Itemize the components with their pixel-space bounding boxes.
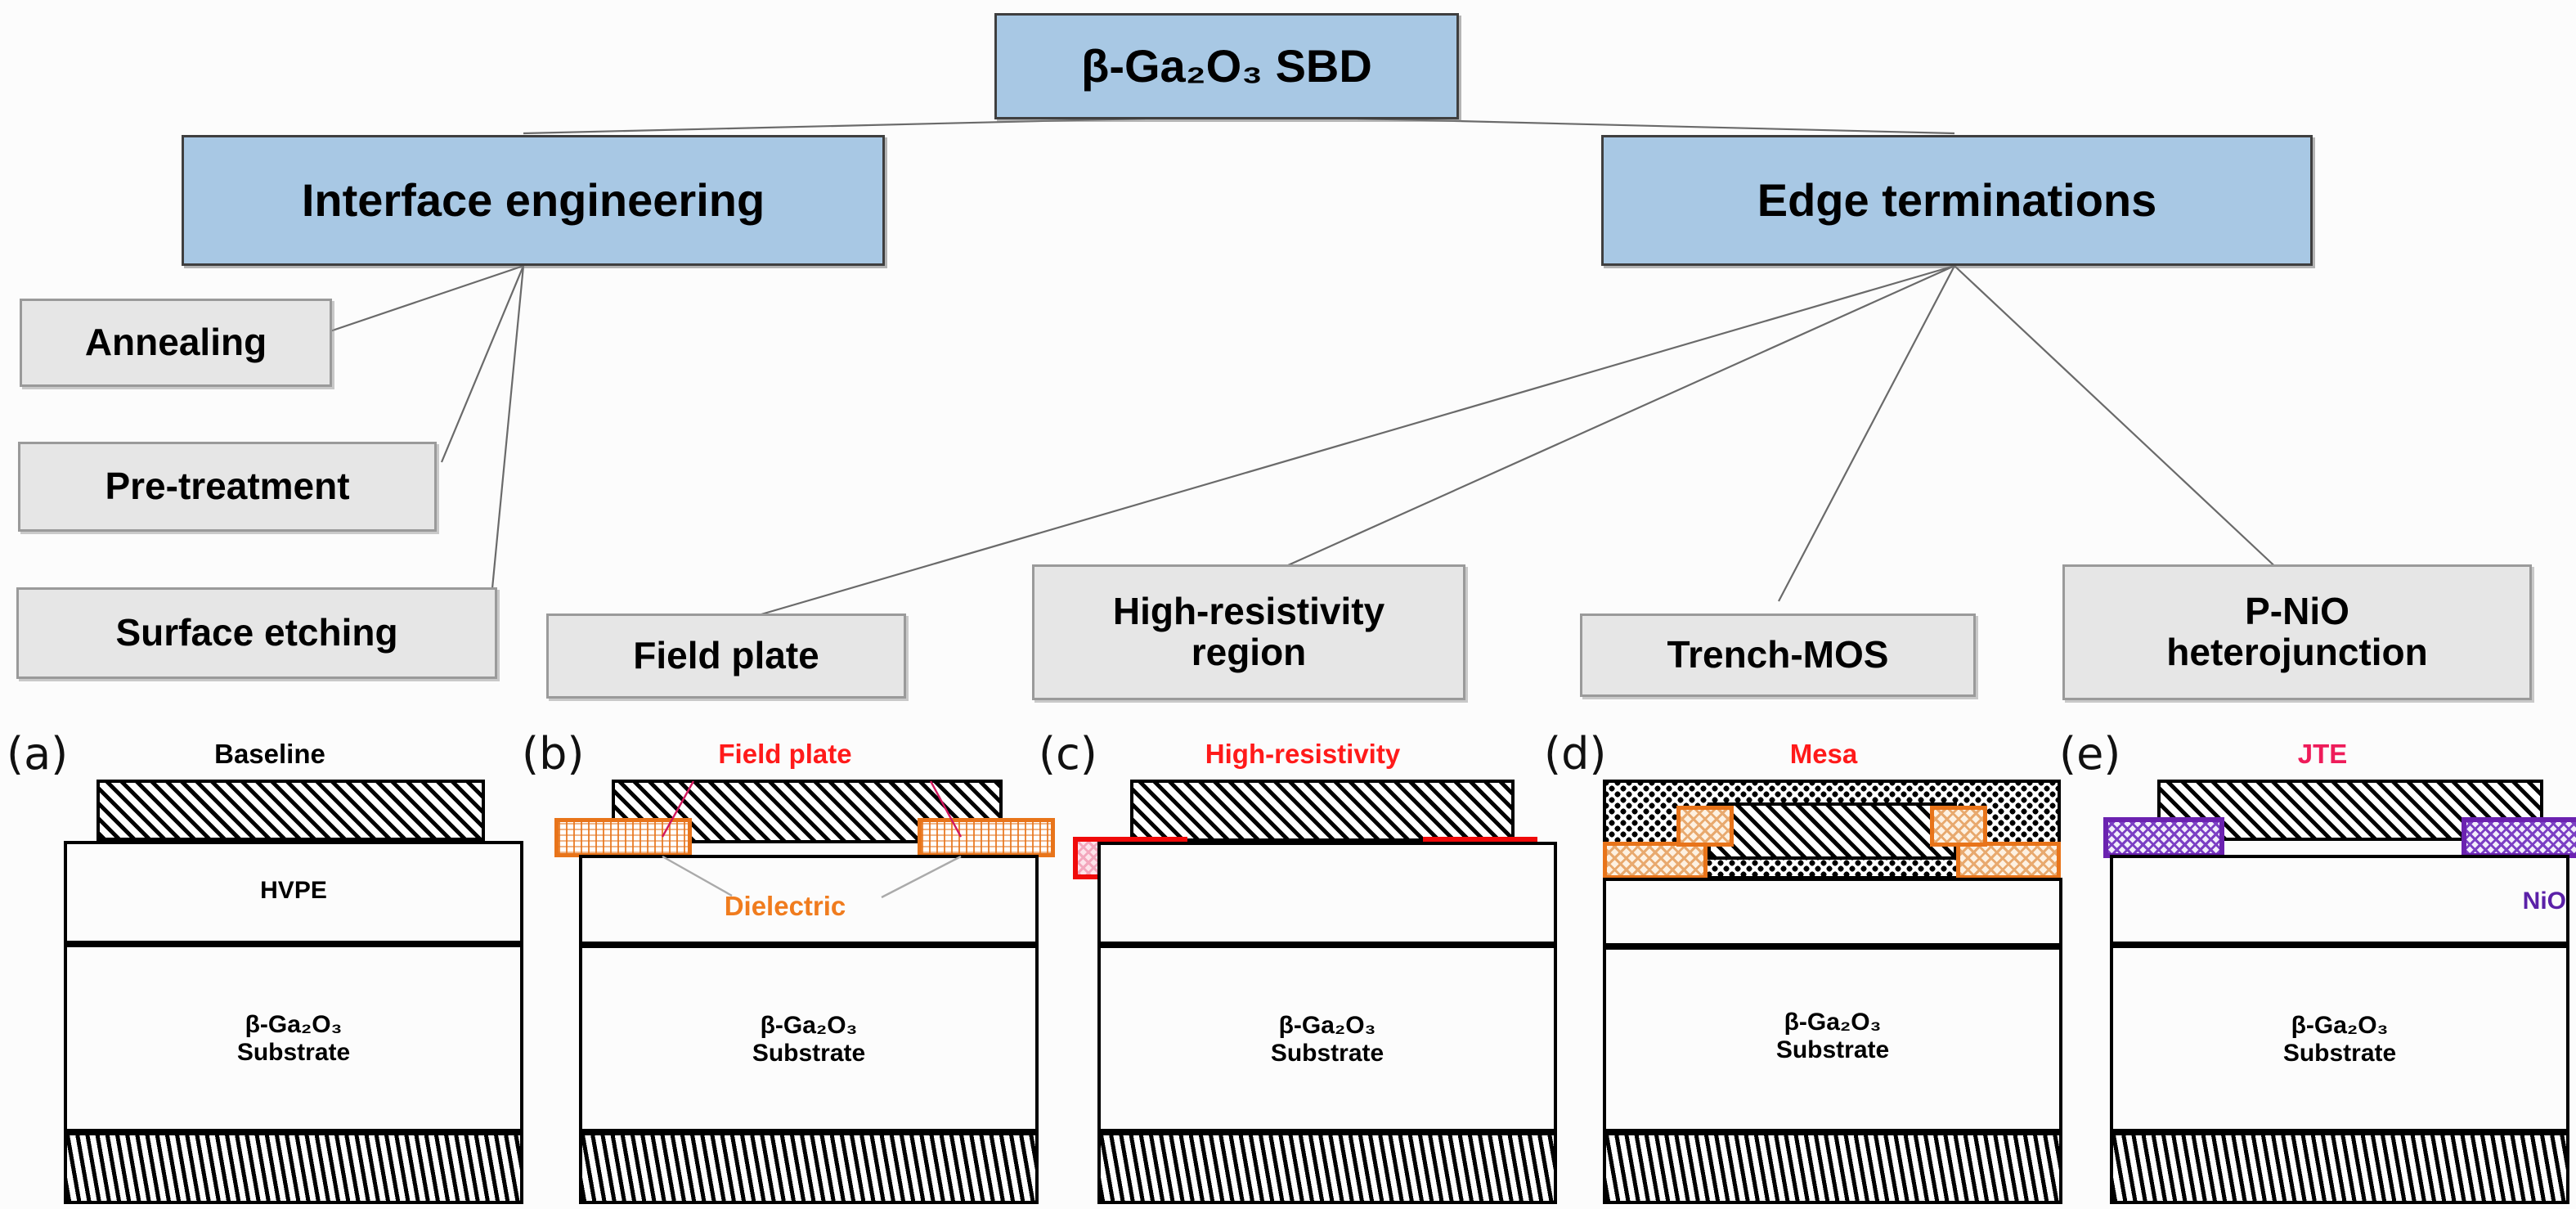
nio-right-e (2462, 817, 2576, 858)
edge-et-trench (1779, 266, 1954, 601)
node-field-plate[interactable]: Field plate (546, 613, 906, 699)
node-interface-engineering[interactable]: Interface engineering (182, 135, 885, 266)
node-field-plate-label: Field plate (633, 636, 819, 676)
substrate-line2-a: Substrate (237, 1039, 350, 1066)
device-panel-mesa: (d) Mesa β-Ga₂O₃ Substrate (1537, 732, 2094, 1209)
substrate-d: β-Ga₂O₃ Substrate (1603, 946, 2062, 1132)
node-trench-mos-label: Trench-MOS (1667, 635, 1889, 676)
substrate-line1-d: β-Ga₂O₃ (1784, 1009, 1882, 1036)
edge-et-hires (1272, 266, 1954, 573)
node-surface-etching-label: Surface etching (115, 613, 397, 654)
panel-e-title: JTE (2175, 740, 2470, 767)
node-p-nio-label: P-NiO heterojunction (2166, 591, 2427, 672)
substrate-line2-c: Substrate (1271, 1040, 1384, 1067)
trench-liner-right-step-d (1930, 806, 1987, 847)
device-panel-baseline: (a) Baseline HVPE β-Ga₂O₃ Substrate (0, 732, 532, 1209)
substrate-e: β-Ga₂O₃ Substrate (2110, 945, 2569, 1132)
edge-root-interface (523, 119, 1145, 133)
node-interface-label: Interface engineering (302, 176, 765, 225)
cathode-electrode-a (64, 1132, 523, 1204)
substrate-line1-e: β-Ga₂O₃ (2291, 1012, 2389, 1039)
node-edge-terminations[interactable]: Edge terminations (1601, 135, 2313, 266)
substrate-label-a: β-Ga₂O₃ Substrate (67, 1011, 520, 1066)
nio-left-e (2103, 817, 2224, 858)
anode-electrode-c (1130, 780, 1515, 842)
edge-if-pretreat (442, 266, 523, 462)
panel-e-tag: (e) (2059, 732, 2120, 776)
edge-if-etching (491, 266, 523, 605)
anode-electrode-a (96, 780, 485, 841)
dielectric-annotation-b: Dielectric (638, 892, 932, 919)
substrate-line1-c: β-Ga₂O₃ (1279, 1012, 1376, 1039)
node-high-resistivity-region[interactable]: High-resistivity region (1032, 564, 1465, 700)
device-panel-jte: (e) JTE NiO β-Ga₂O₃ Substrate (2053, 732, 2576, 1209)
drift-layer-c (1097, 842, 1557, 945)
substrate-line1-a: β-Ga₂O₃ (245, 1011, 343, 1038)
cathode-electrode-b (579, 1132, 1039, 1204)
node-pre-treatment[interactable]: Pre-treatment (18, 442, 437, 532)
panel-b-tag: (b) (522, 732, 584, 776)
hvpe-label-a: HVPE (67, 877, 520, 905)
device-panel-field-plate: (b) Field plate β-Ga₂O₃ Substrate Dielec… (515, 732, 1047, 1209)
node-annealing-label: Annealing (85, 322, 267, 363)
substrate-label-b: β-Ga₂O₃ Substrate (582, 1012, 1035, 1067)
node-root[interactable]: β-Ga₂O₃ SBD (994, 13, 1459, 119)
substrate-label-c: β-Ga₂O₃ Substrate (1101, 1012, 1554, 1067)
substrate-c: β-Ga₂O₃ Substrate (1097, 945, 1557, 1132)
node-annealing[interactable]: Annealing (20, 299, 332, 387)
cathode-electrode-c (1097, 1132, 1557, 1204)
panel-d-tag: (d) (1544, 732, 1606, 776)
substrate-line2-d: Substrate (1776, 1036, 1889, 1063)
substrate-a: β-Ga₂O₃ Substrate (64, 944, 523, 1132)
substrate-line2-e: Substrate (2283, 1040, 2396, 1067)
substrate-line1-b: β-Ga₂O₃ (761, 1012, 858, 1039)
panel-d-title: Mesa (1660, 740, 1987, 767)
panel-a-tag: (a) (7, 732, 68, 776)
node-edge-label: Edge terminations (1757, 176, 2157, 225)
node-p-nio-heterojunction[interactable]: P-NiO heterojunction (2062, 564, 2532, 700)
cathode-electrode-d (1603, 1132, 2062, 1204)
cathode-electrode-e (2110, 1132, 2569, 1204)
trench-liner-left-d (1603, 842, 1708, 879)
panel-c-title: High-resistivity (1111, 740, 1495, 767)
node-pre-treatment-label: Pre-treatment (105, 466, 349, 507)
node-surface-etching[interactable]: Surface etching (16, 587, 497, 679)
panel-a-title: Baseline (98, 740, 442, 767)
node-root-label: β-Ga₂O₃ SBD (1081, 42, 1372, 91)
nio-annotation-e: NiO (2113, 888, 2576, 915)
node-high-resistivity-label: High-resistivity region (1113, 591, 1384, 672)
drift-layer-d (1603, 878, 2062, 946)
hvpe-layer-a: HVPE (64, 841, 523, 944)
panel-c-tag: (c) (1039, 732, 1097, 776)
dielectric-left-b (554, 818, 692, 857)
drift-layer-e: NiO (2110, 855, 2569, 945)
node-trench-mos[interactable]: Trench-MOS (1580, 613, 1976, 697)
trench-liner-right-d (1956, 842, 2061, 879)
edge-root-edge (1358, 119, 1954, 133)
substrate-b: β-Ga₂O₃ Substrate (579, 945, 1039, 1132)
substrate-line2-b: Substrate (752, 1040, 865, 1067)
panel-b-title: Field plate (605, 740, 965, 767)
edge-et-pnio (1954, 266, 2282, 573)
substrate-label-d: β-Ga₂O₃ Substrate (1606, 1009, 2059, 1063)
device-panel-high-resistivity: (c) High-resistivity β-Ga₂O₃ Substrate (1032, 732, 1572, 1209)
substrate-label-e: β-Ga₂O₃ Substrate (2113, 1012, 2566, 1067)
anode-electrode-d (1708, 802, 1957, 860)
trench-liner-left-step-d (1676, 806, 1734, 847)
